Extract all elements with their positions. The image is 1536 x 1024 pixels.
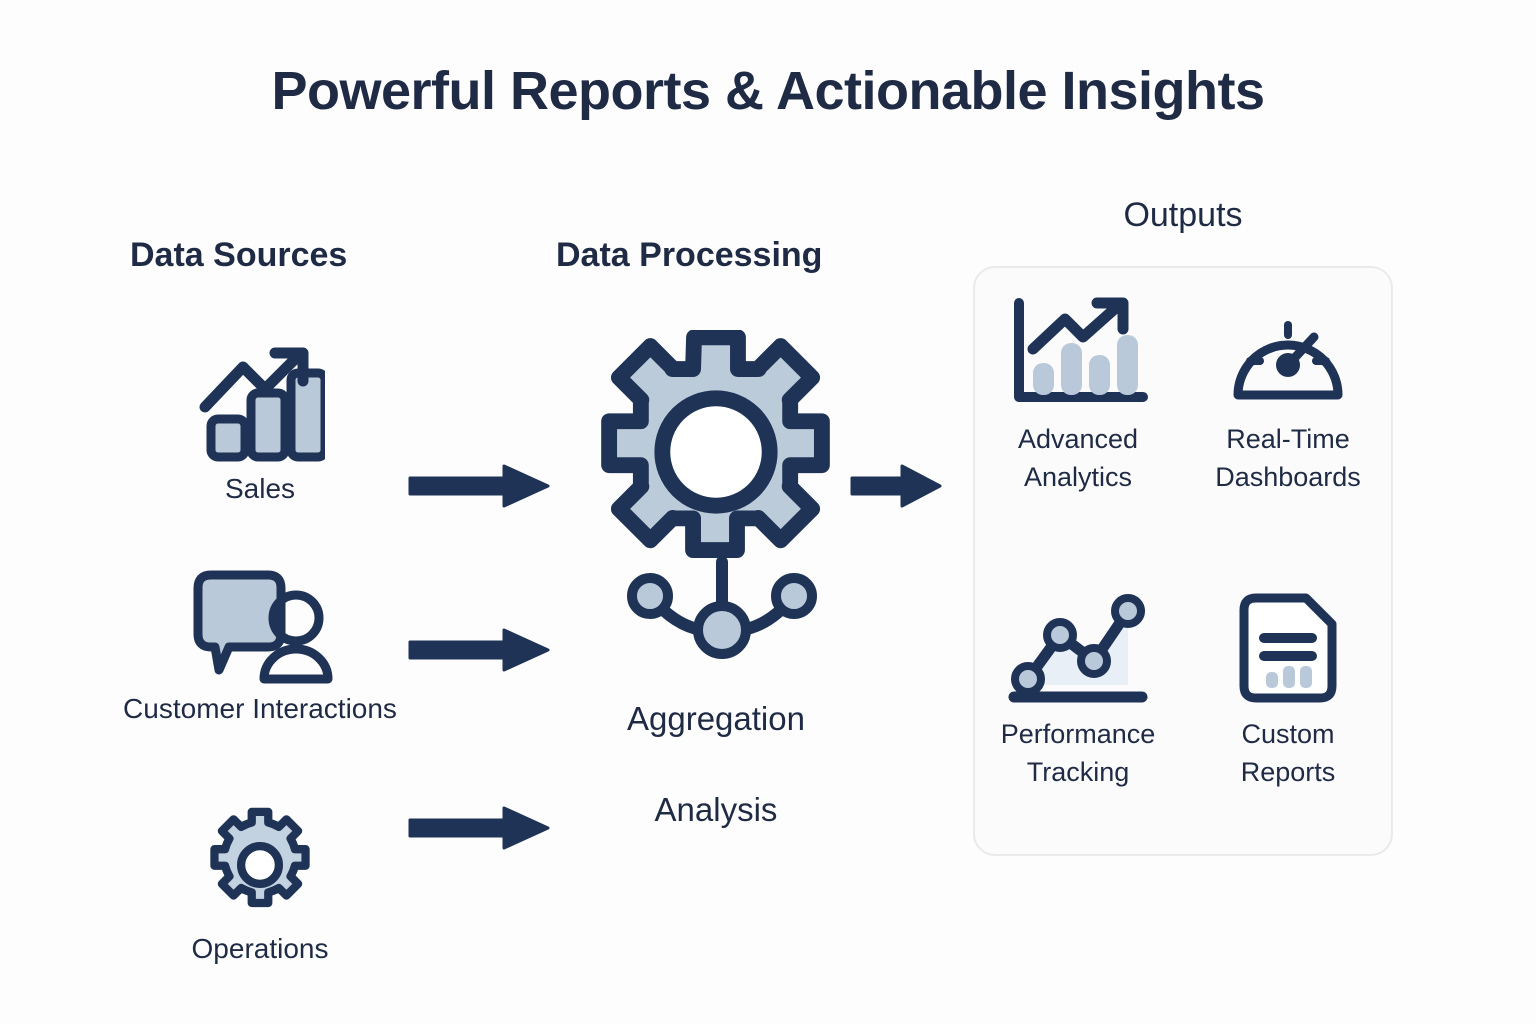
outputs-grid: Advanced Analytics Real-Time Dashboards <box>973 266 1393 856</box>
node-network-icon <box>608 558 836 668</box>
bar-chart-trend-icon-wrap <box>1007 294 1149 412</box>
source-item-customer-interactions: Customer Interactions <box>110 565 410 730</box>
output-label-advanced-analytics: Advanced Analytics <box>1018 420 1138 497</box>
process-label-analysis: Analysis <box>546 791 886 829</box>
document-report-icon <box>1234 590 1342 706</box>
page-title: Powerful Reports & Actionable Insights <box>0 60 1536 122</box>
arrow-customer-to-processing <box>408 628 550 672</box>
arrow-sales-to-processing <box>408 464 550 508</box>
chat-user-icon <box>185 566 335 684</box>
section-header-data-sources: Data Sources <box>130 236 347 275</box>
document-report-icon-wrap <box>1234 589 1342 707</box>
section-header-outputs: Outputs <box>973 196 1393 235</box>
section-header-data-processing: Data Processing <box>556 236 822 275</box>
gauge-icon-wrap <box>1228 294 1348 412</box>
source-label-sales: Sales <box>110 469 410 510</box>
gauge-icon <box>1228 299 1348 407</box>
diagram-canvas: Powerful Reports & Actionable Insights D… <box>0 0 1536 1024</box>
output-label-custom-reports: Custom Reports <box>1241 715 1336 792</box>
source-item-sales: Sales <box>110 345 410 510</box>
source-label-customer-interactions: Customer Interactions <box>110 689 410 730</box>
area-line-chart-icon <box>1002 591 1154 705</box>
output-label-performance-tracking: Performance Tracking <box>1001 715 1156 792</box>
source-label-operations: Operations <box>110 929 410 970</box>
bar-chart-growth-icon-wrap <box>110 345 410 465</box>
output-label-real-time-dashboards: Real-Time Dashboards <box>1215 420 1361 497</box>
source-item-operations: Operations <box>110 805 410 970</box>
output-item-custom-reports[interactable]: Custom Reports <box>1183 561 1393 856</box>
output-item-performance-tracking[interactable]: Performance Tracking <box>973 561 1183 856</box>
bar-chart-trend-icon <box>1007 297 1149 409</box>
gear-small-icon-wrap <box>110 805 410 925</box>
gear-small-icon <box>201 806 319 924</box>
chat-user-icon-wrap <box>110 565 410 685</box>
area-line-chart-icon-wrap <box>1002 589 1154 707</box>
arrow-processing-to-outputs <box>850 464 942 508</box>
process-label-aggregation: Aggregation <box>546 700 886 738</box>
gear-large-icon <box>594 330 838 574</box>
output-item-real-time-dashboards[interactable]: Real-Time Dashboards <box>1183 266 1393 561</box>
bar-chart-growth-icon <box>195 345 325 465</box>
arrow-operations-to-processing <box>408 806 550 850</box>
output-item-advanced-analytics[interactable]: Advanced Analytics <box>973 266 1183 561</box>
